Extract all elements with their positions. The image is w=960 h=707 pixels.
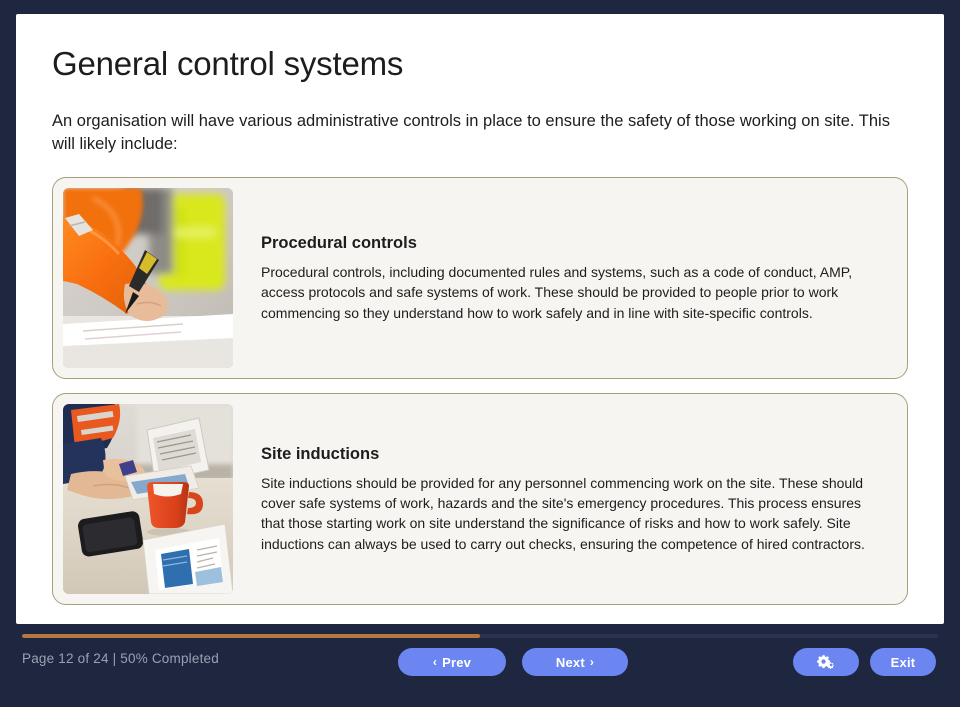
card-text: Site inductions should be provided for a… [261, 473, 879, 554]
utility-buttons: Exit [793, 648, 936, 676]
next-button-label: Next [556, 655, 585, 670]
site-inductions-illustration [63, 404, 233, 594]
card-text: Procedural controls, including documente… [261, 262, 879, 323]
content-card-site-inductions: Site inductions Site inductions should b… [52, 393, 908, 605]
chevron-left-icon: ‹ [433, 656, 437, 668]
content-card-procedural-controls: Procedural controls Procedural controls,… [52, 177, 908, 379]
card-heading: Procedural controls [261, 234, 879, 253]
chevron-right-icon: › [590, 656, 594, 668]
cogs-icon [817, 654, 835, 670]
next-button[interactable]: Next › [522, 648, 628, 676]
procedural-controls-illustration [63, 188, 233, 368]
card-heading: Site inductions [261, 445, 879, 464]
exit-button-label: Exit [891, 655, 916, 670]
prev-button-label: Prev [442, 655, 471, 670]
exit-button[interactable]: Exit [870, 648, 936, 676]
progress-status-label: Page 12 of 24 | 50% Completed [22, 651, 219, 666]
settings-button[interactable] [793, 648, 859, 676]
prev-button[interactable]: ‹ Prev [398, 648, 506, 676]
site-inductions-photo [63, 404, 233, 594]
intro-paragraph: An organisation will have various admini… [52, 110, 908, 157]
procedural-controls-photo [63, 188, 233, 368]
page-title: General control systems [52, 44, 908, 84]
slide-panel: General control systems An organisation … [16, 14, 944, 624]
progress-bar-track [22, 634, 938, 638]
progress-bar-fill [22, 634, 480, 638]
navigation-buttons: ‹ Prev Next › [398, 648, 628, 676]
